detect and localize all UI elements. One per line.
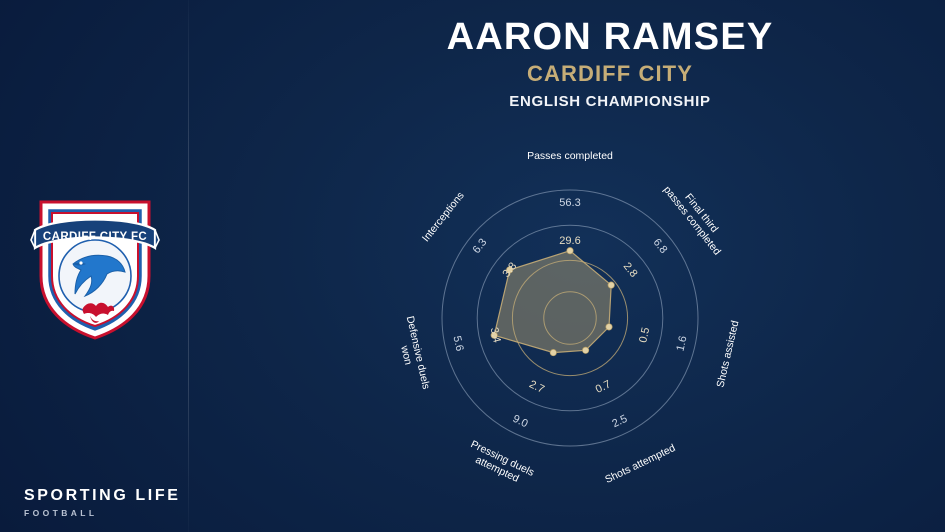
player-radar-page: AARON RAMSEY CARDIFF CITY ENGLISH CHAMPI… <box>0 0 945 532</box>
radar-chart-svg: Passes completed56.329.6Final thirdpasse… <box>385 150 765 515</box>
club-subtitle: CARDIFF CITY <box>300 61 920 87</box>
header: AARON RAMSEY CARDIFF CITY ENGLISH CHAMPI… <box>300 18 920 110</box>
radar-axis-label-2: Shots assisted <box>714 319 741 388</box>
radar-value-label-5: 3.4 <box>488 326 503 344</box>
radar-max-label-5: 5.6 <box>450 335 465 353</box>
radar-point-1 <box>608 282 614 288</box>
vertical-divider <box>188 0 189 532</box>
radar-axis-label-1: Final thirdpasses completed <box>661 176 733 257</box>
radar-max-label-3: 2.5 <box>610 413 629 430</box>
radar-axis-label-4: Pressing duelsattempted <box>464 438 536 489</box>
radar-max-label-6: 6.3 <box>471 237 490 256</box>
page-title: AARON RAMSEY <box>300 18 920 58</box>
badge-club-text: CARDIFF CITY FC <box>43 231 147 243</box>
radar-value-label-0: 29.6 <box>559 235 580 247</box>
radar-axis-label-3: Shots attempted <box>603 442 677 486</box>
radar-value-label-2: 0.5 <box>637 326 652 344</box>
radar-max-label-0: 56.3 <box>559 197 580 209</box>
radar-max-label-1: 6.8 <box>651 237 670 256</box>
club-badge: CARDIFF CITY FC <box>33 190 157 342</box>
radar-max-label-2: 1.6 <box>674 335 689 353</box>
brand-name: SPORTING LIFE <box>24 487 180 505</box>
radar-point-2 <box>606 324 612 330</box>
competition-subtitle: ENGLISH CHAMPIONSHIP <box>300 93 920 110</box>
sporting-life-logo: SPORTING LIFE FOOTBALL <box>24 487 180 518</box>
radar-value-label-1: 2.8 <box>621 260 640 279</box>
radar-axis-label-6: Interceptions <box>420 190 467 244</box>
radar-axis-label-0: Passes completed <box>527 150 613 162</box>
radar-value-label-4: 2.7 <box>527 378 546 395</box>
radar-value-label-3: 0.7 <box>594 378 613 395</box>
radar-max-label-4: 9.0 <box>511 413 530 430</box>
radar-point-4 <box>550 349 556 355</box>
brand-section: FOOTBALL <box>24 508 180 518</box>
radar-axis-label-5: Defensive duelswon <box>392 315 432 393</box>
radar-point-0 <box>567 248 573 254</box>
radar-point-3 <box>582 347 588 353</box>
cardiff-city-crest-icon: CARDIFF CITY FC <box>33 190 157 342</box>
radar-chart: Passes completed56.329.6Final thirdpasse… <box>385 150 765 515</box>
